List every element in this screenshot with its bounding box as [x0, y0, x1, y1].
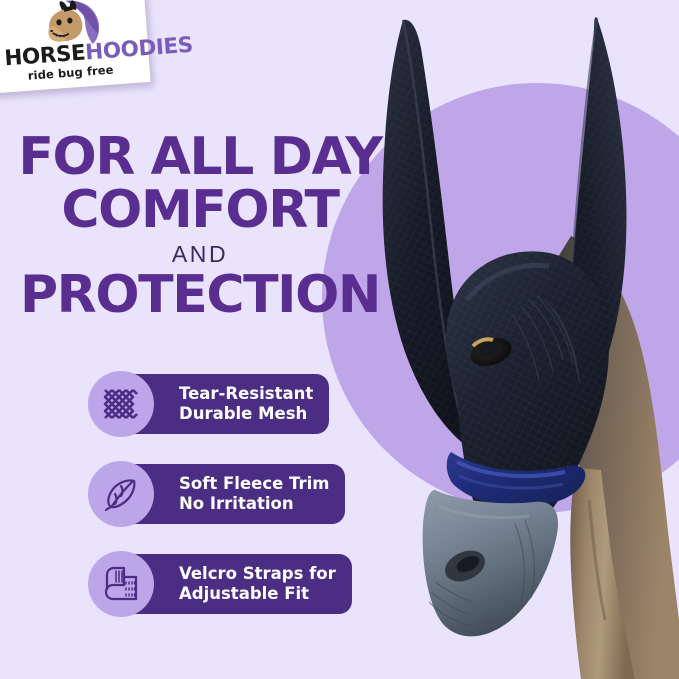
feature-label-line-1: Tear-Resistant: [179, 384, 313, 403]
headline-line-1: FOR ALL DAY: [0, 132, 400, 183]
feature-label-line-1: Velcro Straps for: [179, 564, 336, 583]
headline-line-3: PROTECTION: [0, 270, 400, 321]
feature-label-line-2: Durable Mesh: [179, 404, 307, 423]
brand-logo-card: HORSEHOODIES ride bug free: [0, 0, 151, 94]
velcro-strap-icon: [88, 551, 154, 617]
feature-label-line-2: No Irritation: [179, 494, 294, 513]
feather-icon: [88, 461, 154, 527]
feature-label-line-2: Adjustable Fit: [179, 584, 309, 603]
headline-block: FOR ALL DAY COMFORT AND PROTECTION: [0, 132, 400, 321]
feature-pill: Soft Fleece Trim No Irritation: [121, 464, 345, 524]
feature-label-line-1: Soft Fleece Trim: [179, 474, 329, 493]
feature-label: Soft Fleece Trim No Irritation: [179, 474, 329, 514]
mesh-lattice-icon: [88, 371, 154, 437]
headline-line-2: COMFORT: [0, 185, 400, 236]
feature-pill: Velcro Straps for Adjustable Fit: [121, 554, 352, 614]
product-feature-poster: HORSEHOODIES ride bug free FOR ALL DAY C…: [0, 0, 679, 679]
product-photo: [339, 0, 679, 679]
headline-conjunction: AND: [0, 243, 400, 266]
feature-label: Tear-Resistant Durable Mesh: [179, 384, 313, 424]
feature-label: Velcro Straps for Adjustable Fit: [179, 564, 336, 604]
